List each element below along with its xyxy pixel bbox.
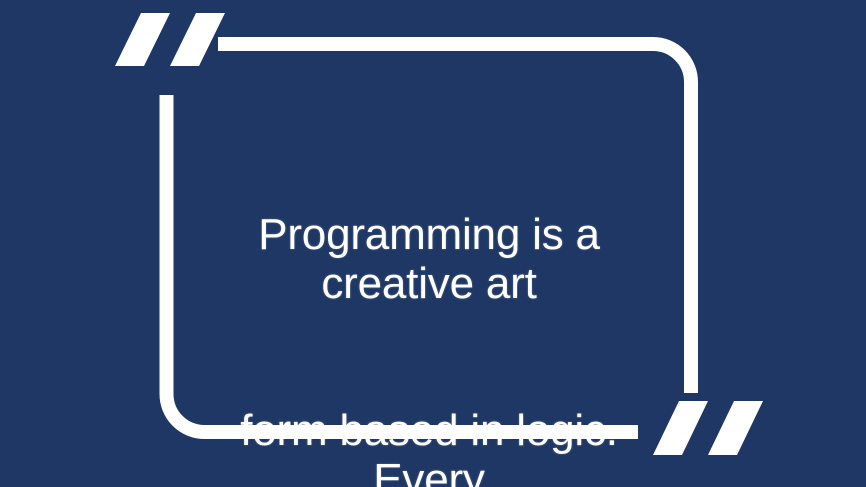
quote-card: Programming is a creative art form based… xyxy=(0,0,866,487)
opening-quotation-mark xyxy=(115,13,225,66)
closing-quote-bar-2 xyxy=(708,401,763,455)
quote-line: form based in logic. Every xyxy=(183,406,675,487)
opening-quote-bar-1 xyxy=(115,13,170,66)
quote-line: Programming is a creative art xyxy=(183,210,675,308)
quote-text-block: Programming is a creative art form based… xyxy=(183,112,675,487)
opening-quote-bar-2 xyxy=(170,13,225,66)
